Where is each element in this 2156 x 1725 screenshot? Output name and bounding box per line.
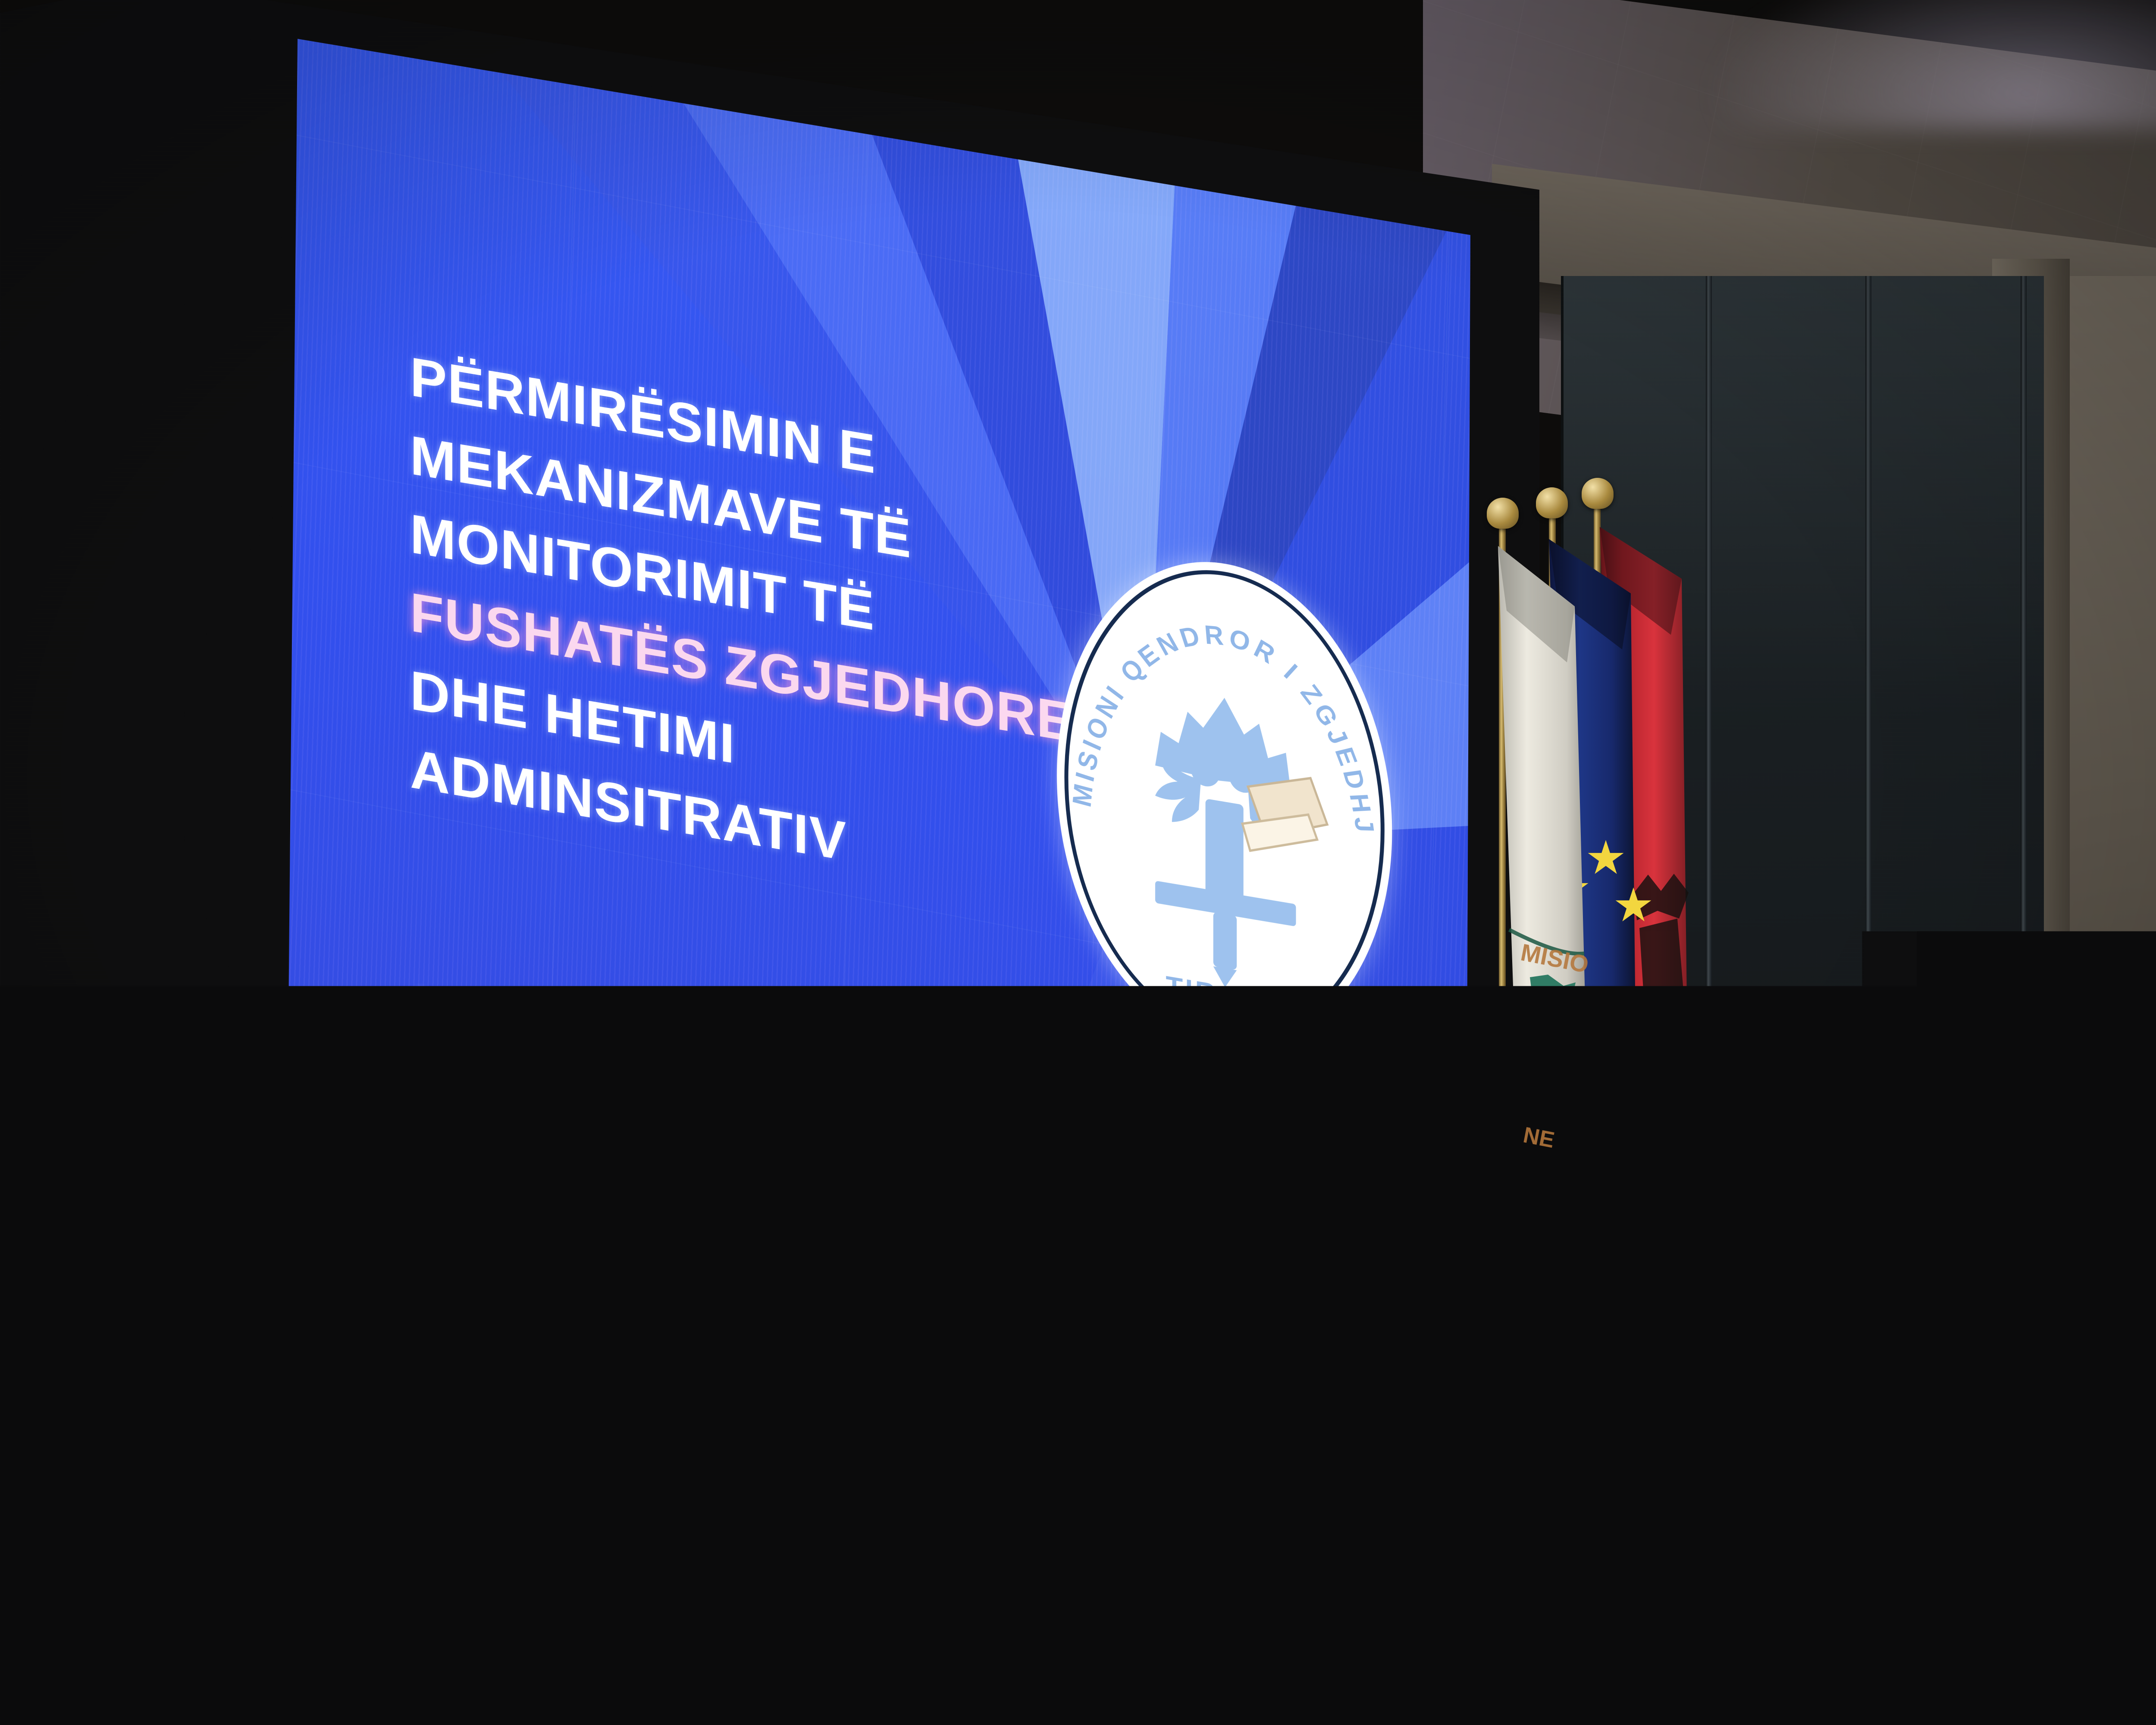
flag-stand-group: ★ ★ ★ ★ ★ ★ MISIO [1453,483,1720,1570]
flag-finial [1487,498,1519,529]
wire-globe-icon [825,1218,896,1317]
svg-text:✳: ✳ [436,1218,442,1227]
svg-text:✳: ✳ [436,1167,442,1176]
led-wall-stand-leg [1001,1522,1045,1656]
partition-mullion [2021,276,2027,1453]
flag-finial [1536,487,1568,518]
led-wall-stand-leg [1273,1496,1317,1625]
conference-room-scene: PËRMIRËSIMIN E MEKANIZMAVE TË MONITORIMI… [0,0,2156,1725]
svg-text:✳: ✳ [454,1181,460,1190]
union-jack-flag-icon [1019,1275,1061,1311]
flag-finial [1582,478,1614,509]
uk-tagline-separator: | [1066,1324,1069,1333]
qendresa-wordmark: QËNDRESA QYTETARE [486,1179,624,1254]
logo-albanian-helsinki-committee: ALBANIAN HELSINKI COMMITTEE KOMITETI SHQ… [664,1191,785,1298]
partition-mullion [1865,276,1871,1453]
torch-laurel-icon [691,1195,758,1271]
logo-qendresa-qytetare: ✳✳ ✳✳ ✳✳ QËNDRESA QYTETARE [407,1151,624,1268]
cec-institutional-flag: MISIO NE [1482,542,1625,1456]
logo-divider [804,1226,806,1291]
qendresa-ornament-icon: ✳✳ ✳✳ ✳✳ [407,1151,471,1242]
ceiling-light-glow [1703,0,2156,129]
wfd-wordmark: WFD WESTMINSTER FOUNDATION FOR DEMOCRACY [907,1241,990,1324]
svg-text:✳: ✳ [418,1175,424,1184]
svg-text:✳: ✳ [454,1211,460,1220]
svg-text:✳: ✳ [418,1205,424,1214]
power-cable [714,1570,720,1699]
logo-divider [643,1198,645,1264]
logo-wfd: WFD WESTMINSTER FOUNDATION FOR DEMOCRACY [825,1218,990,1332]
cec-emblem: KOMISIONI QENDROR I ZGJEDHJEVE [1051,474,1398,1135]
